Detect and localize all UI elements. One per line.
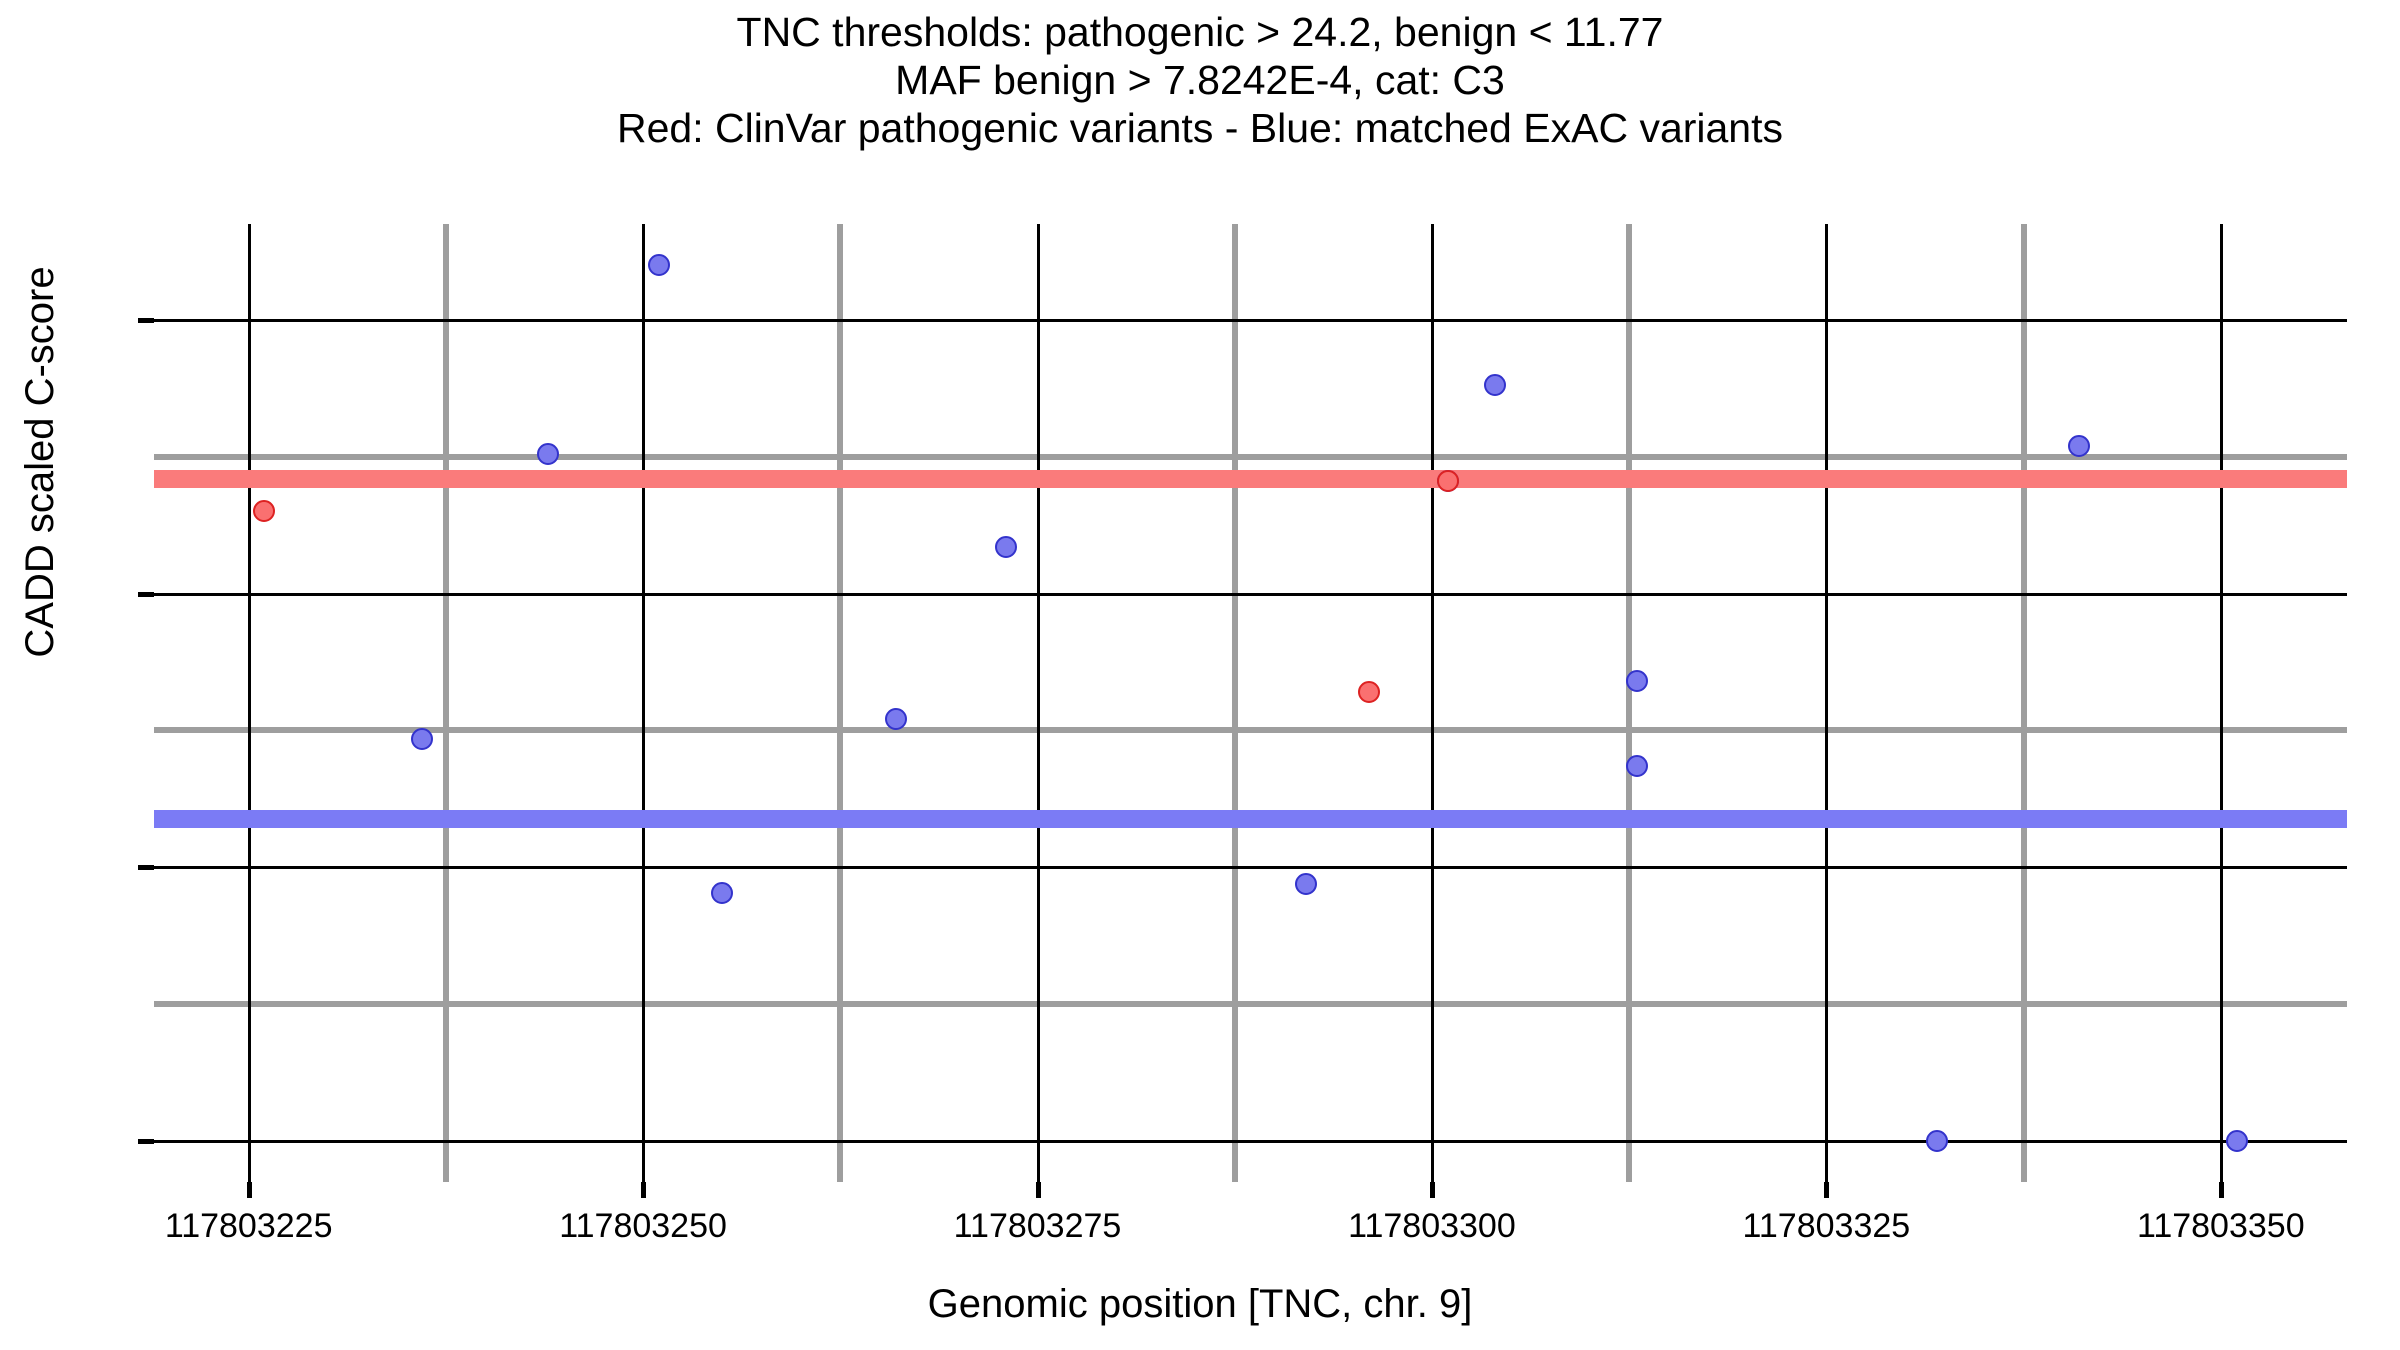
y-axis-tick-mark — [138, 318, 154, 323]
data-point-benign[interactable] — [885, 708, 907, 730]
gridline-vertical-minor — [1232, 224, 1238, 1182]
benign-threshold-band — [154, 810, 2347, 828]
data-point-benign[interactable] — [1926, 1130, 1948, 1152]
x-axis-tick-mark — [1036, 1182, 1041, 1198]
gridline-vertical-minor — [837, 224, 843, 1182]
gridline-horizontal-major — [154, 1140, 2347, 1143]
scatter-plot-figure: TNC thresholds: pathogenic > 24.2, benig… — [0, 0, 2400, 1350]
x-axis-tick-mark — [1824, 1182, 1829, 1198]
data-point-benign[interactable] — [411, 728, 433, 750]
gridline-horizontal-minor — [154, 454, 2347, 460]
pathogenic-threshold-band — [154, 470, 2347, 488]
x-axis-tick-label: 117803275 — [888, 1208, 1188, 1244]
chart-title: TNC thresholds: pathogenic > 24.2, benig… — [0, 8, 2400, 152]
gridline-vertical-minor — [1626, 224, 1632, 1182]
gridline-vertical-major — [248, 224, 251, 1182]
x-axis-tick-label: 117803250 — [493, 1208, 793, 1244]
data-point-benign[interactable] — [2226, 1130, 2248, 1152]
gridline-vertical-major — [642, 224, 645, 1182]
gridline-horizontal-major — [154, 866, 2347, 869]
x-axis-tick-label: 117803325 — [1676, 1208, 1976, 1244]
gridline-vertical-major — [1037, 224, 1040, 1182]
data-point-benign[interactable] — [648, 254, 670, 276]
data-point-benign[interactable] — [2068, 435, 2090, 457]
x-axis-tick-label: 117803225 — [99, 1208, 399, 1244]
title-line-maf: MAF benign > 7.8242E-4, cat: C3 — [0, 56, 2400, 104]
gridline-horizontal-minor — [154, 1001, 2347, 1007]
data-point-benign[interactable] — [1626, 755, 1648, 777]
gridline-vertical-minor — [2021, 224, 2027, 1182]
x-axis-tick-mark — [641, 1182, 646, 1198]
y-axis-tick-mark — [138, 592, 154, 597]
plot-area: 0102030117803225117803250117803275117803… — [154, 224, 2347, 1182]
gridline-horizontal-major — [154, 593, 2347, 596]
data-point-pathogenic[interactable] — [253, 500, 275, 522]
x-axis-title: Genomic position [TNC, chr. 9] — [0, 1282, 2400, 1326]
y-axis-tick-mark — [138, 1139, 154, 1144]
title-line-thresholds: TNC thresholds: pathogenic > 24.2, benig… — [0, 8, 2400, 56]
gridline-horizontal-minor — [154, 727, 2347, 733]
y-axis-title: CADD scaled C-score — [18, 82, 62, 842]
data-point-benign[interactable] — [711, 882, 733, 904]
data-point-benign[interactable] — [537, 443, 559, 465]
x-axis-tick-label: 117803350 — [2071, 1208, 2371, 1244]
title-line-legend: Red: ClinVar pathogenic variants - Blue:… — [0, 104, 2400, 152]
gridline-horizontal-major — [154, 319, 2347, 322]
data-point-pathogenic[interactable] — [1358, 681, 1380, 703]
data-point-benign[interactable] — [995, 536, 1017, 558]
data-point-benign[interactable] — [1295, 873, 1317, 895]
data-point-benign[interactable] — [1484, 374, 1506, 396]
gridline-vertical-major — [2220, 224, 2223, 1182]
y-axis-tick-mark — [138, 865, 154, 870]
gridline-vertical-major — [1431, 224, 1434, 1182]
x-axis-tick-mark — [2219, 1182, 2224, 1198]
x-axis-tick-label: 117803300 — [1282, 1208, 1582, 1244]
gridline-vertical-major — [1825, 224, 1828, 1182]
x-axis-tick-mark — [247, 1182, 252, 1198]
data-point-pathogenic[interactable] — [1437, 470, 1459, 492]
x-axis-tick-mark — [1430, 1182, 1435, 1198]
gridline-vertical-minor — [443, 224, 449, 1182]
data-point-benign[interactable] — [1626, 670, 1648, 692]
